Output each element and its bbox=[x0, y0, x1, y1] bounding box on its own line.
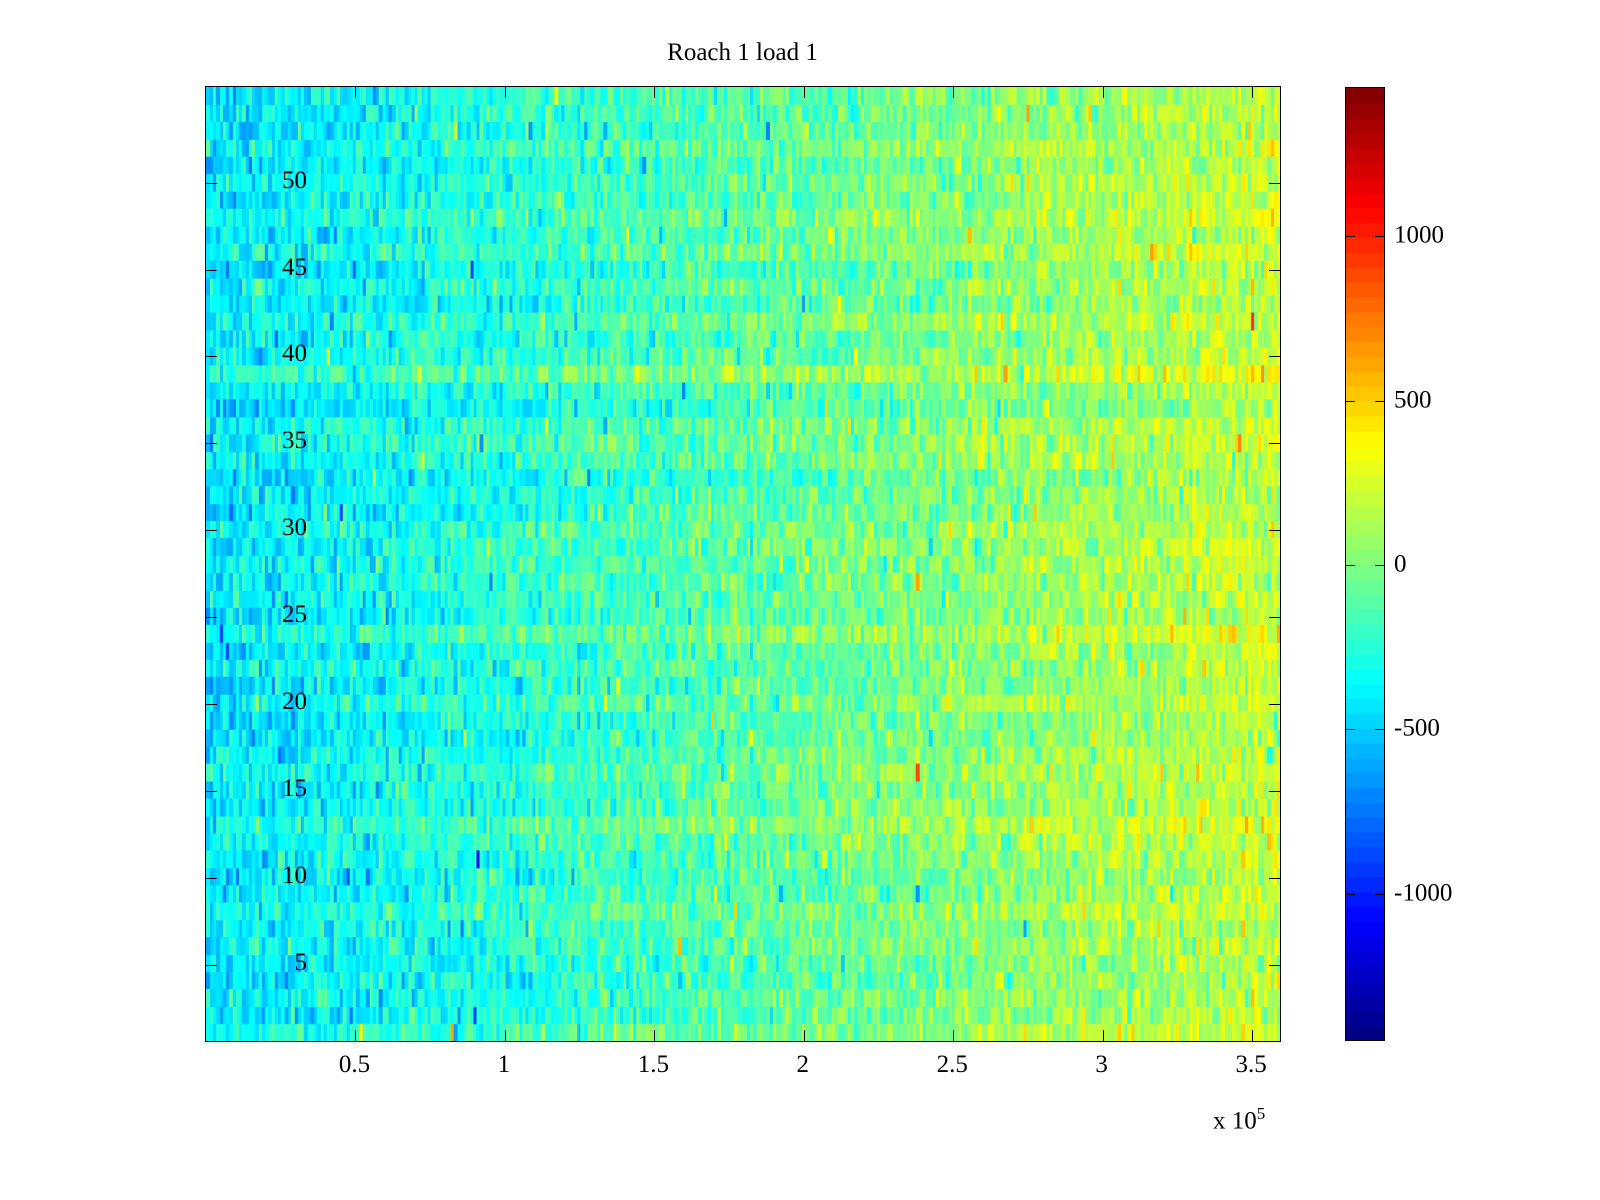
y-tick-label: 40 bbox=[282, 341, 307, 366]
y-tick-label: 30 bbox=[282, 515, 307, 540]
colorbar-tick-mark-right bbox=[1375, 894, 1384, 895]
y-tick-mark-right bbox=[1269, 356, 1280, 357]
x-tick-label: 2.5 bbox=[937, 1052, 968, 1077]
x-tick-mark-top bbox=[1252, 87, 1253, 98]
x-tick-mark bbox=[654, 1030, 655, 1041]
y-tick-label: 10 bbox=[282, 863, 307, 888]
colorbar-tick-label: 1000 bbox=[1394, 223, 1444, 248]
y-tick-label: 5 bbox=[295, 950, 308, 975]
x-tick-mark-top bbox=[505, 87, 506, 98]
x-tick-mark-top bbox=[355, 87, 356, 98]
colorbar-tick-mark bbox=[1346, 894, 1355, 895]
colorbar-tick-mark bbox=[1346, 729, 1355, 730]
heatmap-axes[interactable] bbox=[205, 86, 1281, 1042]
x-tick-label: 0.5 bbox=[339, 1052, 370, 1077]
y-tick-mark-right bbox=[1269, 183, 1280, 184]
colorbar-tick-mark-right bbox=[1375, 236, 1384, 237]
y-tick-mark bbox=[206, 617, 217, 618]
x-tick-mark-top bbox=[1103, 87, 1104, 98]
colorbar-tick-mark bbox=[1346, 401, 1355, 402]
x-tick-mark-top bbox=[804, 87, 805, 98]
y-tick-mark-right bbox=[1269, 530, 1280, 531]
x-tick-label: 3.5 bbox=[1235, 1052, 1266, 1077]
y-tick-label: 15 bbox=[282, 776, 307, 801]
colorbar-tick-label: 0 bbox=[1394, 552, 1407, 577]
y-tick-mark bbox=[206, 356, 217, 357]
y-tick-mark-right bbox=[1269, 270, 1280, 271]
figure-canvas: Roach 1 load 1 5101520253035404550 0.511… bbox=[0, 0, 1600, 1200]
y-tick-mark bbox=[206, 878, 217, 879]
y-tick-mark-right bbox=[1269, 704, 1280, 705]
x-tick-label: 3 bbox=[1095, 1052, 1108, 1077]
y-tick-label: 50 bbox=[282, 168, 307, 193]
colorbar-tick-label: -500 bbox=[1394, 716, 1440, 741]
colorbar-tick-mark-right bbox=[1375, 401, 1384, 402]
colorbar[interactable] bbox=[1345, 87, 1385, 1041]
x-tick-mark bbox=[804, 1030, 805, 1041]
x-tick-mark bbox=[355, 1030, 356, 1041]
x-tick-label: 1 bbox=[498, 1052, 511, 1077]
colorbar-tick-mark bbox=[1346, 565, 1355, 566]
x-tick-label: 2 bbox=[797, 1052, 810, 1077]
y-tick-mark bbox=[206, 791, 217, 792]
x-tick-mark-top bbox=[654, 87, 655, 98]
y-tick-mark bbox=[206, 270, 217, 271]
colorbar-tick-mark-right bbox=[1375, 565, 1384, 566]
x-tick-mark bbox=[505, 1030, 506, 1041]
heatmap-image[interactable] bbox=[206, 87, 1280, 1041]
y-tick-label: 35 bbox=[282, 428, 307, 453]
y-tick-mark bbox=[206, 443, 217, 444]
x-tick-label: 1.5 bbox=[638, 1052, 669, 1077]
colorbar-tick-mark bbox=[1346, 236, 1355, 237]
colorbar-gradient bbox=[1346, 88, 1384, 1040]
y-tick-mark-right bbox=[1269, 878, 1280, 879]
y-tick-label: 45 bbox=[282, 255, 307, 280]
x-tick-mark bbox=[1252, 1030, 1253, 1041]
y-tick-mark bbox=[206, 183, 217, 184]
x-exponent-power: 5 bbox=[1257, 1104, 1266, 1123]
y-tick-mark bbox=[206, 965, 217, 966]
y-tick-label: 25 bbox=[282, 602, 307, 627]
colorbar-tick-mark-right bbox=[1375, 729, 1384, 730]
page-title: Roach 1 load 1 bbox=[205, 40, 1280, 65]
y-tick-mark bbox=[206, 530, 217, 531]
x-tick-mark-top bbox=[953, 87, 954, 98]
y-tick-mark-right bbox=[1269, 791, 1280, 792]
x-exponent-mantissa: x 10 bbox=[1213, 1107, 1257, 1134]
x-axis-exponent-label: x 105 bbox=[1213, 1105, 1265, 1133]
y-tick-mark-right bbox=[1269, 965, 1280, 966]
colorbar-tick-label: -1000 bbox=[1394, 880, 1452, 905]
y-tick-mark-right bbox=[1269, 443, 1280, 444]
x-tick-mark bbox=[1103, 1030, 1104, 1041]
colorbar-tick-label: 500 bbox=[1394, 387, 1432, 412]
y-tick-mark-right bbox=[1269, 617, 1280, 618]
y-tick-mark bbox=[206, 704, 217, 705]
x-tick-mark bbox=[953, 1030, 954, 1041]
y-tick-label: 20 bbox=[282, 689, 307, 714]
